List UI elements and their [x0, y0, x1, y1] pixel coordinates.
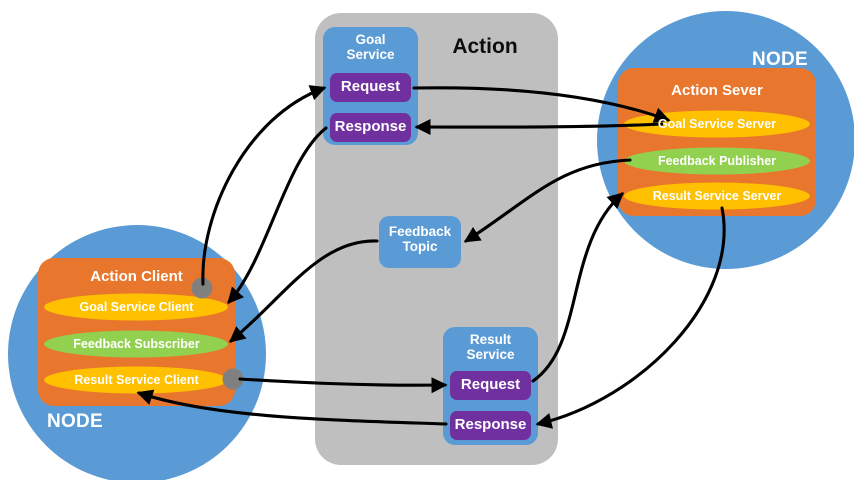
result-service-response-chip: [450, 411, 531, 440]
pill-goal-service-server: [624, 111, 810, 138]
pill-result-service-server: [624, 183, 810, 210]
pill-feedback-publisher: [624, 148, 810, 175]
result-service-request-chip: [450, 371, 531, 400]
connector-dot-goal-client: [192, 278, 213, 299]
feedback-topic-box: [379, 216, 461, 268]
goal-service-response-chip: [330, 113, 411, 142]
goal-service-request-chip: [330, 73, 411, 102]
pill-feedback-subscriber: [44, 331, 228, 358]
shape-layer: [0, 0, 854, 480]
pill-result-service-client: [44, 367, 228, 394]
connector-dot-result-client: [223, 369, 244, 390]
diagram-canvas: Action NODE Action Sever Goal Service Se…: [0, 0, 854, 480]
